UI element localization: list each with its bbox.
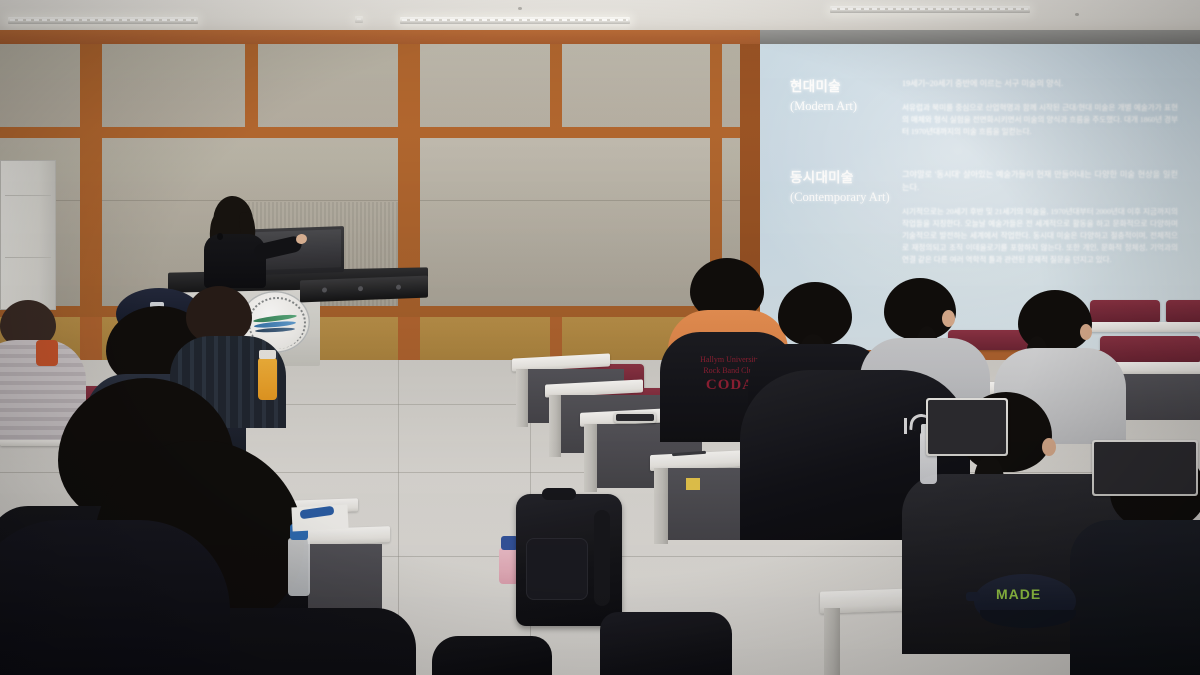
chair[interactable] [1100,336,1200,362]
desk-leg [584,424,597,492]
desk-leg [824,608,840,675]
slide-term-korean: 현대미술 [790,78,902,96]
backpack-handle [542,488,576,500]
slide-body-modern-art: 19세기~20세기 중반에 이르는 서구 미술의 양식. 서유럽과 북미를 중심… [902,78,1178,147]
bottle-cap [259,350,276,359]
wall-acoustic-panel [722,44,740,127]
slide-term-korean: 동시대미술 [790,169,902,187]
slide-paragraph: 19세기~20세기 중반에 이르는 서구 미술의 양식. [902,78,1178,91]
wall-acoustic-panel [0,44,80,127]
wall-rail [0,306,760,317]
screen-top-rail [760,30,1200,44]
wall-panel-seam [0,200,740,201]
backpack[interactable] [516,494,622,626]
wall-acoustic-panel [562,44,710,127]
ceiling [0,0,1200,30]
baseball-cap: MADE [966,574,1084,630]
shoulders [1070,520,1200,675]
desk-leg [654,468,668,544]
desk-leg [549,395,561,457]
jacket-on-floor [432,636,552,675]
presenter [196,196,296,286]
slide-term-english: (Contemporary Art) [790,189,902,206]
ceiling-sensor [518,7,522,10]
wall-acoustic-panel [414,138,710,306]
slide-row-contemporary-art: 동시대미술 (Contemporary Art) 그야말로 '동시대' 살아있는… [790,169,1178,275]
wall-acoustic-panel [420,44,550,127]
tablet-device[interactable] [1092,440,1198,496]
wall-base-panel [420,317,550,360]
ear [1042,438,1056,456]
desk-leg [516,369,528,427]
wall-mullion [550,44,562,127]
tablet-device[interactable] [614,412,656,423]
cap-text-made: MADE [996,586,1041,602]
slide-term-modern-art: 현대미술 (Modern Art) [790,78,902,147]
slide-row-modern-art: 현대미술 (Modern Art) 19세기~20세기 중반에 이르는 서구 미… [790,78,1178,147]
lecture-hall-photo: 현대미술 (Modern Art) 19세기~20세기 중반에 이르는 서구 미… [0,0,1200,675]
slide-paragraph: 서유럽과 북미를 중심으로 산업혁명과 함께 시작된 근대/현대 미술은 개별 … [902,102,1178,138]
wall-mullion [245,44,258,127]
juice-bottle[interactable] [258,358,277,400]
slide-body-contemporary-art: 그야말로 '동시대' 살아있는 예술가들이 현재 만들어내는 다양한 미술 현상… [902,169,1178,275]
backpack-front-pocket [526,538,588,600]
water-bottle[interactable] [288,538,310,596]
slide-term-english: (Modern Art) [790,98,902,115]
desk [1080,322,1200,332]
wall-rail [0,127,760,138]
wall-mullion [80,44,102,306]
scarf [36,340,58,366]
presenter-torso [204,234,266,288]
wall-acoustic-panel [258,44,408,127]
slide-paragraph: 시기적으로는 20세기 후반 및 21세기의 미술을, 1970년대부터 200… [902,206,1178,266]
backpack-secondary[interactable] [600,612,732,675]
tablet-device[interactable] [926,398,1008,456]
chair[interactable] [1166,300,1200,322]
cap-strap [966,592,980,601]
ceiling-light-fixture [830,6,1030,13]
wall-acoustic-panel [102,44,245,127]
desk-item-note [686,478,700,490]
slide-paragraph: 그야말로 '동시대' 살아있는 예술가들이 현재 만들어내는 다양한 미술 현상… [902,169,1178,195]
storage-cabinet [0,160,56,310]
cap-brim [980,610,1076,628]
ceiling-light-fixture [355,16,363,23]
ear [942,310,955,327]
presenter-microphone-icon [217,233,223,240]
ear [1080,324,1092,340]
ceiling-light-fixture [8,17,198,24]
backpack-strap [594,510,610,606]
ceiling-light-fixture [400,17,630,24]
slide-term-contemporary-art: 동시대미술 (Contemporary Art) [790,169,902,275]
chair[interactable] [1090,300,1160,322]
shoulders [0,520,230,675]
ceiling-sensor [1075,13,1079,16]
